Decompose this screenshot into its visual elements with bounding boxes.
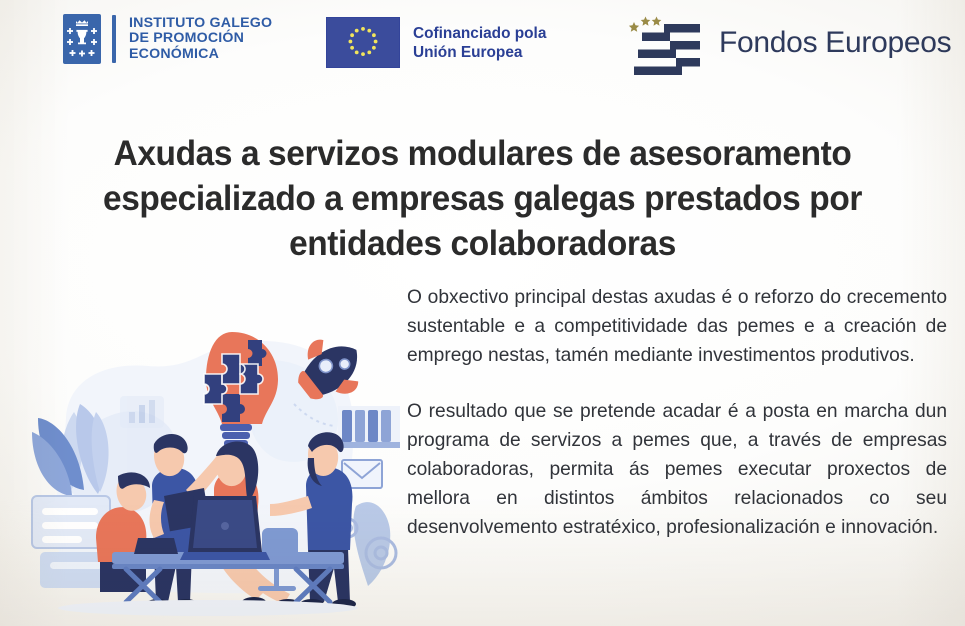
logo-fondos-europeos: Fondos Europeos (620, 10, 951, 76)
logo-european-union: Cofinanciado pola Unión Europea (326, 17, 546, 68)
eu-flag-icon (326, 17, 400, 68)
fondos-europeos-mark-icon (620, 10, 706, 76)
xunta-emblem-svg (63, 14, 101, 64)
eu-stars-svg (327, 18, 399, 67)
igape-wordmark: INSTITUTO GALEGO DE PROMOCIÓN ECONÓMICA (129, 16, 272, 63)
logo-bar: INSTITUTO GALEGO DE PROMOCIÓN ECONÓMICA (0, 0, 965, 92)
xunta-coat-of-arms-icon (63, 14, 101, 64)
eu-line-2: Unión Europea (413, 43, 546, 62)
team-illustration (8, 300, 400, 622)
office-shelf-binders (334, 406, 400, 448)
bar-chart-icon (120, 396, 164, 428)
fondos-europeos-label: Fondos Europeos (719, 26, 951, 60)
poster-page: INSTITUTO GALEGO DE PROMOCIÓN ECONÓMICA (0, 0, 965, 626)
fondos-mark-svg (620, 10, 706, 76)
floor-shadow (58, 600, 358, 616)
logo-divider (112, 15, 116, 63)
team-illustration-svg (8, 300, 400, 622)
igape-line-1: INSTITUTO GALEGO (129, 16, 272, 32)
igape-line-3: ECONÓMICA (129, 47, 272, 63)
paragraph-objective: O obxectivo principal destas axudas é o … (407, 283, 947, 371)
igape-line-2: DE PROMOCIÓN (129, 31, 272, 47)
paragraph-result: O resultado que se pretende acadar é a p… (407, 397, 947, 543)
laptop-secondary (134, 538, 178, 554)
logo-igape: INSTITUTO GALEGO DE PROMOCIÓN ECONÓMICA (63, 14, 272, 64)
laptop (180, 496, 270, 560)
body-copy: O obxectivo principal destas axudas é o … (407, 283, 947, 543)
eu-wordmark: Cofinanciado pola Unión Europea (413, 24, 546, 62)
page-title: Axudas a servizos modulares de asesorame… (56, 131, 909, 266)
eu-line-1: Cofinanciado pola (413, 24, 546, 43)
